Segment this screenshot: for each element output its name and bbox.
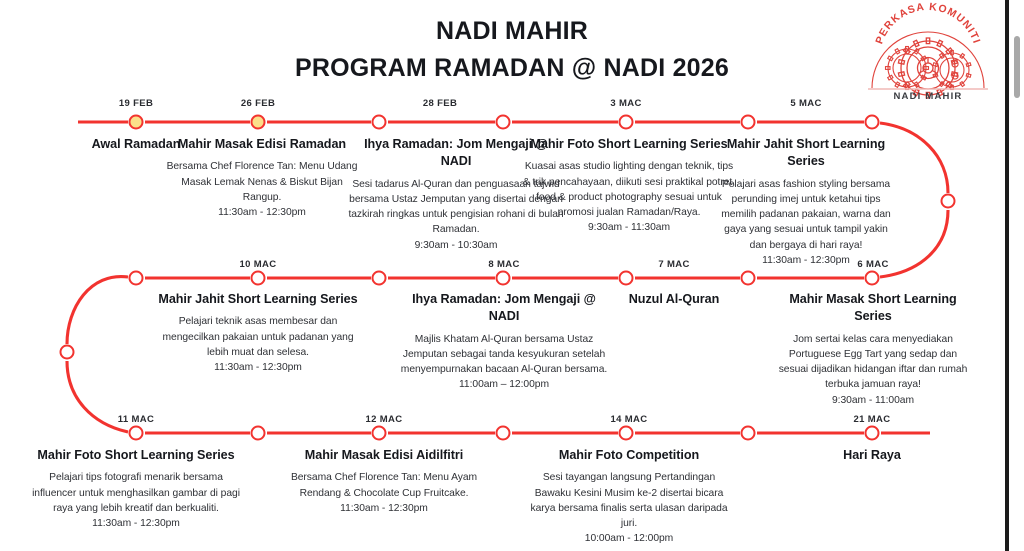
event-time: 9:30am - 11:30am — [522, 220, 736, 235]
perkasa-komuniti-logo: PERKASA KOMUNITI NADI MAHIR — [860, 2, 996, 102]
event-title: Mahir Masak Edisi Ramadan — [162, 136, 362, 153]
event-title: Mahir Foto Short Learning Series — [27, 447, 245, 464]
event-mahir-foto-short-learning-series-1[interactable]: Mahir Foto Short Learning Series Kuasai … — [522, 136, 736, 236]
event-desc: Bersama Chef Florence Tan: Menu Udang Ma… — [162, 159, 362, 205]
date-label-28-feb: 28 FEB — [423, 98, 457, 109]
event-desc: Jom sertai kelas cara menyediakan Portug… — [775, 332, 971, 393]
event-mahir-masak-edisi-aidilfitri[interactable]: Mahir Masak Edisi Aidilfitri Bersama Che… — [277, 447, 491, 516]
event-title: Mahir Masak Edisi Aidilfitri — [277, 447, 491, 464]
event-desc: Kuasai asas studio lighting dengan tekni… — [522, 159, 736, 220]
timeline-node-5-mac[interactable] — [865, 115, 880, 130]
date-label-7-mac: 7 MAC — [658, 259, 689, 270]
event-title: Mahir Foto Competition — [529, 447, 729, 464]
timeline-node-6-mac[interactable] — [865, 271, 880, 286]
timeline-node-row2-5[interactable] — [619, 271, 634, 286]
event-time: 9:30am - 10:30am — [348, 238, 564, 253]
timeline-node-row2-1[interactable] — [129, 271, 144, 286]
date-label-21-mac: 21 MAC — [854, 414, 891, 425]
timeline-node-row3-6[interactable] — [741, 426, 756, 441]
timeline-node-7-mac[interactable] — [741, 271, 756, 286]
timeline-node-19-feb[interactable] — [129, 115, 144, 130]
timeline-node-row1-4[interactable] — [496, 115, 511, 130]
event-title: Mahir Jahit Short Learning Series — [151, 291, 365, 308]
event-time: 9:30am - 11:00am — [775, 393, 971, 408]
event-hari-raya[interactable]: Hari Raya — [787, 447, 957, 464]
timeline-node-26-feb[interactable] — [251, 115, 266, 130]
timeline-node-12-mac[interactable] — [372, 426, 387, 441]
svg-text:PERKASA KOMUNITI: PERKASA KOMUNITI — [873, 2, 982, 46]
event-title: Mahir Foto Short Learning Series — [522, 136, 736, 153]
event-desc: Pelajari asas fashion styling bersama pe… — [717, 177, 895, 253]
connector-node-right[interactable] — [941, 194, 956, 209]
event-mahir-masak-edisi-ramadan[interactable]: Mahir Masak Edisi Ramadan Bersama Chef F… — [162, 136, 362, 220]
timeline-node-10-mac[interactable] — [251, 271, 266, 286]
date-label-12-mac: 12 MAC — [366, 414, 403, 425]
date-label-6-mac: 6 MAC — [857, 259, 888, 270]
timeline-node-row2-3[interactable] — [372, 271, 387, 286]
event-time: 11:30am - 12:30pm — [151, 360, 365, 375]
event-desc: Sesi tayangan langsung Pertandingan Bawa… — [529, 470, 729, 531]
vertical-scrollbar[interactable] — [1007, 0, 1024, 551]
event-ihya-ramadan-jom-mengaji-2[interactable]: Ihya Ramadan: Jom Mengaji @ NADI Majlis … — [396, 291, 612, 393]
event-title: Mahir Jahit Short Learning Series — [717, 136, 895, 171]
timeline-node-21-mac[interactable] — [865, 426, 880, 441]
date-label-11-mac: 11 MAC — [118, 414, 154, 425]
date-label-3-mac: 3 MAC — [610, 98, 641, 109]
event-mahir-masak-short-learning-series[interactable]: Mahir Masak Short Learning Series Jom se… — [775, 291, 971, 408]
event-time: 11:00am – 12:00pm — [396, 377, 612, 392]
scrollbar-thumb[interactable] — [1014, 36, 1020, 98]
event-mahir-foto-competition[interactable]: Mahir Foto Competition Sesi tayangan lan… — [529, 447, 729, 547]
timeline-node-14-mac[interactable] — [619, 426, 634, 441]
connector-node-left[interactable] — [60, 345, 75, 360]
event-time: 11:30am - 12:30pm — [277, 501, 491, 516]
event-desc: Pelajari teknik asas membesar dan mengec… — [151, 314, 365, 360]
timeline-node-row1-6[interactable] — [741, 115, 756, 130]
logo-arc-text: PERKASA KOMUNITI — [873, 2, 982, 46]
infographic-canvas: NADI MAHIR PROGRAM RAMADAN @ NADI 2026 — [0, 0, 1024, 551]
date-label-26-feb: 26 FEB — [241, 98, 275, 109]
date-label-10-mac: 10 MAC — [240, 259, 277, 270]
event-mahir-jahit-short-learning-series-2[interactable]: Mahir Jahit Short Learning Series Pelaja… — [151, 291, 365, 375]
event-title: Ihya Ramadan: Jom Mengaji @ NADI — [396, 291, 612, 326]
event-time: 10:00am - 12:00pm — [529, 531, 729, 546]
timeline-node-11-mac[interactable] — [129, 426, 144, 441]
timeline-node-8-mac[interactable] — [496, 271, 511, 286]
event-mahir-foto-short-learning-series-2[interactable]: Mahir Foto Short Learning Series Pelajar… — [27, 447, 245, 531]
event-desc: Majlis Khatam Al-Quran bersama Ustaz Jem… — [396, 332, 612, 378]
event-time: 11:30am - 12:30pm — [162, 205, 362, 220]
logo-base-text: NADI MAHIR — [894, 91, 963, 102]
event-mahir-jahit-short-learning-series-1[interactable]: Mahir Jahit Short Learning Series Pelaja… — [717, 136, 895, 268]
date-label-14-mac: 14 MAC — [611, 414, 648, 425]
timeline-node-3-mac[interactable] — [619, 115, 634, 130]
event-title: Hari Raya — [787, 447, 957, 464]
event-desc: Pelajari tips fotografi menarik bersama … — [27, 470, 245, 516]
event-time: 11:30am - 12:30pm — [27, 516, 245, 531]
date-label-5-mac: 5 MAC — [790, 98, 821, 109]
event-title: Mahir Masak Short Learning Series — [775, 291, 971, 326]
date-label-19-feb: 19 FEB — [119, 98, 153, 109]
event-desc: Bersama Chef Florence Tan: Menu Ayam Ren… — [277, 470, 491, 500]
timeline-node-28-feb[interactable] — [372, 115, 387, 130]
timeline-node-row3-4[interactable] — [496, 426, 511, 441]
timeline-node-row3-2[interactable] — [251, 426, 266, 441]
date-label-8-mac: 8 MAC — [488, 259, 519, 270]
